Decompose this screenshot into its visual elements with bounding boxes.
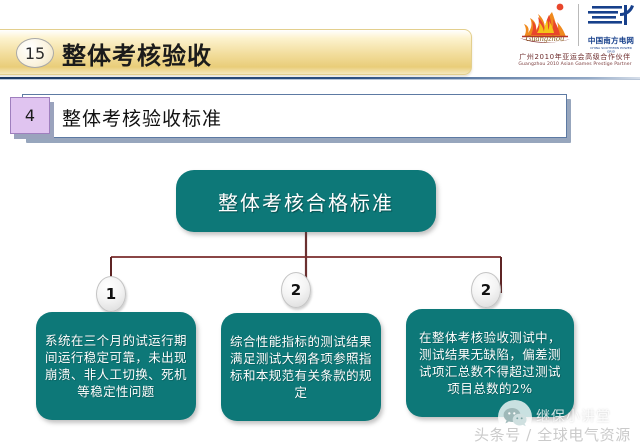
tree-leaf-label-3: 在整体考核验收测试中，测试结果无缺陷，偏差测试项汇总数不得超过测试项目总数的2%	[415, 329, 565, 397]
guangzhou-script-text: Guangzhou	[516, 35, 574, 43]
partner-logo-block: Guangzhou 中国南方电网 CHINA SOUTHERN POWER GR…	[512, 2, 638, 72]
tree-root-label: 整体考核合格标准	[218, 187, 394, 216]
tree-marker-1: 1	[96, 276, 126, 312]
tree-diagram: 整体考核合格标准 1 2 2 系统在三个月的试运行期间运行稳定可靠，未出现崩溃、…	[0, 150, 640, 443]
tree-leaf-node-2[interactable]: 综合性能指标的测试结果满足测试大纲各项参照指标和本规范有关条款的规定	[221, 313, 381, 421]
tree-leaf-node-3[interactable]: 在整体考核验收测试中，测试结果无缺陷，偏差测试项汇总数不得超过测试项目总数的2%	[406, 309, 574, 417]
tree-root-node[interactable]: 整体考核合格标准	[176, 170, 436, 232]
page-title: 整体考核验收	[62, 36, 212, 71]
header-rule-light	[0, 79, 640, 80]
partner-cn-text: 广州2010年亚运会高级合作伙伴	[512, 52, 638, 62]
tree-marker-3: 2	[471, 272, 501, 308]
tree-leaf-node-1[interactable]: 系统在三个月的试运行期间运行稳定可靠，未出现崩溃、非人工切换、死机等稳定性问题	[36, 312, 196, 420]
logo-row: Guangzhou 中国南方电网 CHINA SOUTHERN POWER GR…	[512, 2, 638, 50]
csg-logo: 中国南方电网 CHINA SOUTHERN POWER GRID	[586, 4, 636, 48]
csg-cn-text: 中国南方电网	[586, 35, 636, 46]
logo-divider	[578, 4, 579, 46]
slide-number-badge: 15	[16, 38, 54, 68]
subheader-badge: 4	[10, 97, 50, 134]
tree-leaf-label-1: 系统在三个月的试运行期间运行稳定可靠，未出现崩溃、非人工切换、死机等稳定性问题	[45, 332, 187, 400]
subheader-title: 整体考核验收标准	[62, 104, 222, 131]
tree-leaf-label-2: 综合性能指标的测试结果满足测试大纲各项参照指标和本规范有关条款的规定	[230, 333, 372, 401]
tree-marker-2: 2	[281, 272, 311, 308]
partner-en-text: Guangzhou 2010 Asian Games Prestige Part…	[512, 62, 638, 67]
china-southern-power-grid-icon	[586, 4, 636, 30]
slide-canvas: Guangzhou 中国南方电网 CHINA SOUTHERN POWER GR…	[0, 0, 640, 443]
